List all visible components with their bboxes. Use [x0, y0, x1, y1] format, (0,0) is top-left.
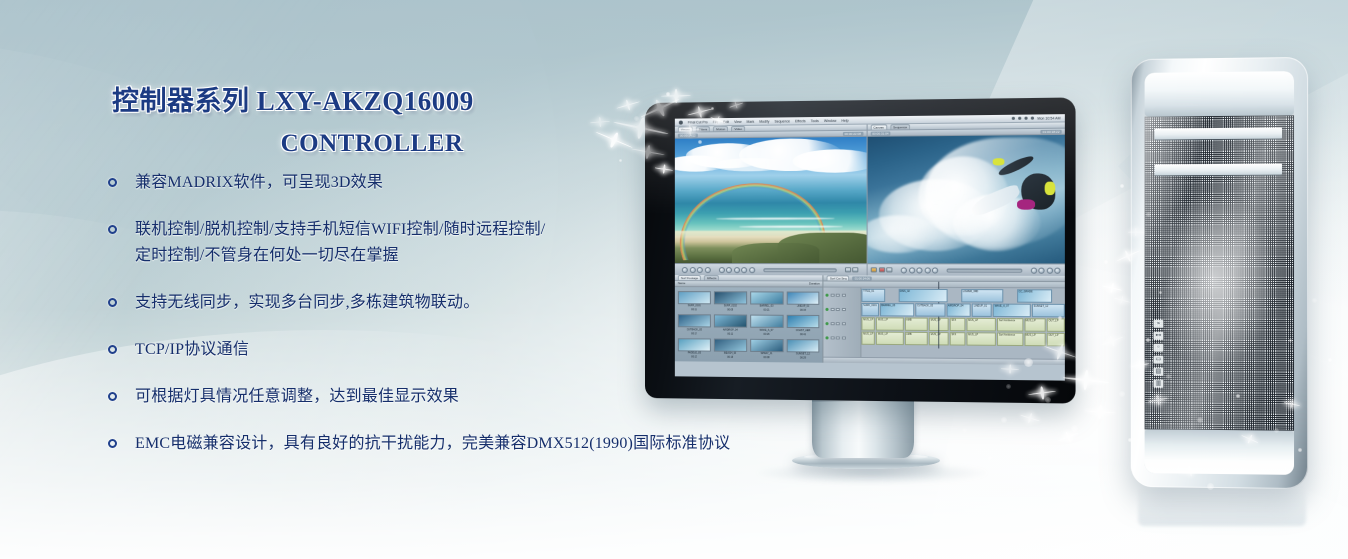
- feature-item-text: TCP/IP协议通信: [135, 337, 249, 363]
- play-around-icon[interactable]: [917, 267, 923, 273]
- bluetooth-icon[interactable]: [1012, 117, 1015, 120]
- feature-item: 支持无线同步，实现多台同步,多栋建筑物联动。: [108, 290, 848, 316]
- timeline-clip[interactable]: WAVE_A_07: [993, 304, 1031, 318]
- timeline-timecode[interactable]: 01:00:24:06: [853, 276, 872, 280]
- feature-item: EMC电磁兼容设计，具有良好的抗干扰能力，完美兼容DMX512(1990)国际标…: [108, 431, 848, 457]
- optical-drive-slot-1[interactable]: [1154, 127, 1281, 139]
- canvas-right-buttons[interactable]: [1031, 267, 1061, 273]
- timeline-clip[interactable]: MUS_LP: [1024, 333, 1046, 347]
- ring-bullet-icon: [108, 392, 117, 401]
- tower-handle-bottom: [1145, 429, 1294, 475]
- loop-icon[interactable]: [932, 267, 938, 273]
- audio-out-icon[interactable]: ▤: [1154, 368, 1164, 376]
- ring-bullet-icon: [108, 225, 117, 234]
- timeline-clip[interactable]: Surf Ambience: [997, 332, 1023, 346]
- ring-bullet-icon: [108, 345, 117, 354]
- viewer-timecode-in[interactable]: 00:00:14:12: [678, 133, 698, 137]
- battery-icon[interactable]: [1031, 117, 1034, 120]
- snapshot-icon[interactable]: [1055, 267, 1061, 273]
- timeline-audio-track[interactable]: MUS_LPMUS_LPAMBMUS_LPSFXMUS_LPSurf Ambie…: [862, 332, 1065, 347]
- insert-edit-icon[interactable]: [871, 267, 877, 272]
- timeline-clip[interactable]: MUS_LP: [967, 318, 997, 332]
- replace-edit-icon[interactable]: [886, 267, 892, 272]
- feature-item-text: 支持无线同步，实现多台同步,多栋建筑物联动。: [135, 290, 479, 316]
- timeline-clip[interactable]: TITLE_01: [862, 289, 885, 302]
- canvas-transport-bar[interactable]: [867, 263, 1065, 276]
- overwrite-edit-icon[interactable]: [879, 267, 885, 272]
- timeline-clip[interactable]: OUT_LP: [1047, 318, 1065, 332]
- timeline-video-track[interactable]: TITLE_01DISS_02LOWER_3RDCC_GRADE: [862, 289, 1065, 303]
- mac-pro-tower: ⌁ ⊷ ◦ ▭ ▤ ▥: [1131, 57, 1308, 489]
- timeline-clip[interactable]: MUS_LP: [876, 317, 903, 330]
- tab-motion[interactable]: Motion: [713, 126, 728, 131]
- timeline-clip[interactable]: MUS_LP: [862, 317, 876, 330]
- tab-filters[interactable]: Filters: [696, 126, 710, 131]
- canvas-panel: Canvas Sequence 00:00:31:04 01:00:18:22: [867, 122, 1065, 275]
- feature-item: 可根据灯具情况任意调整，达到最佳显示效果: [108, 384, 848, 410]
- timeline-clip[interactable]: BARREL_03: [880, 303, 915, 316]
- wifi-icon[interactable]: [1025, 117, 1028, 120]
- match-frame-icon[interactable]: [1047, 267, 1053, 273]
- timeline-clip[interactable]: AIRDROP_04: [946, 303, 971, 316]
- menu-item-mark[interactable]: Mark: [747, 119, 755, 123]
- prev-edit-icon[interactable]: [901, 267, 907, 273]
- tab-viewer[interactable]: Viewer: [678, 126, 693, 131]
- canvas-left-buttons[interactable]: [871, 267, 893, 272]
- menu-item-effects[interactable]: Effects: [795, 119, 806, 123]
- ring-bullet-icon: [108, 439, 117, 448]
- feature-item-text: 联机控制/脱机控制/支持手机短信WIFI控制/随时远程控制/ 定时控制/不管身在…: [135, 217, 545, 269]
- timeline-clip[interactable]: AMB: [905, 332, 928, 345]
- menu-item-window[interactable]: Window: [824, 118, 836, 122]
- optical-drive-slot-2[interactable]: [1154, 164, 1281, 176]
- tower-front-panel: ⌁ ⊷ ◦ ▭ ▤ ▥: [1145, 71, 1294, 475]
- timeline-video-track[interactable]: SURF_0101BARREL_03CUTBACK_02AIRDROP_04LI…: [862, 303, 1065, 317]
- timeline-clip[interactable]: CC_GRADE: [1017, 289, 1053, 303]
- mark-out-icon[interactable]: [1039, 267, 1045, 273]
- tab-sequence[interactable]: Sequence: [890, 124, 910, 129]
- surfer-shorts-accent: [1017, 199, 1035, 209]
- tower-perforated-mesh: [1145, 115, 1294, 430]
- menu-item-edit[interactable]: Edit: [723, 120, 729, 124]
- timeline-clip[interactable]: MUS_LP: [862, 332, 876, 345]
- timeline-clip[interactable]: SURF_0101: [862, 303, 879, 316]
- tab-canvas[interactable]: Canvas: [870, 124, 887, 129]
- audio-in-icon[interactable]: ▭: [1154, 356, 1164, 364]
- timeline-clip[interactable]: DISS_02: [898, 289, 948, 303]
- canvas-timecode-out[interactable]: 01:00:18:22: [1041, 129, 1062, 133]
- next-edit-icon[interactable]: [924, 267, 930, 273]
- canvas-timecode-in[interactable]: 00:00:31:04: [870, 131, 891, 135]
- menu-item-modify[interactable]: Modify: [759, 119, 769, 123]
- ethernet-icon[interactable]: ▥: [1154, 380, 1164, 388]
- timeline-clip[interactable]: SFX: [950, 332, 966, 345]
- timeline-clip[interactable]: MUS_LP: [876, 332, 903, 345]
- timeline-ruler[interactable]: [824, 281, 1065, 288]
- timeline-body: TITLE_01DISS_02LOWER_3RDCC_GRADESURF_010…: [824, 288, 1065, 359]
- canvas-scrubber[interactable]: [947, 268, 1022, 272]
- ring-bullet-icon: [108, 178, 117, 187]
- timeline-clip[interactable]: SUNSET_12: [1032, 304, 1065, 318]
- timeline-audio-track[interactable]: MUS_LPMUS_LPAMBMUS_LPSFXMUS_LPSurf Ambie…: [862, 317, 1065, 332]
- tab-video[interactable]: Video: [731, 126, 745, 131]
- menubar-clock[interactable]: Mon 10:54 AM: [1037, 116, 1060, 120]
- timeline-footer-toolbar[interactable]: [824, 357, 1065, 365]
- timeline-clip[interactable]: CUTBACK_02: [915, 303, 945, 316]
- feature-item-text: 兼容MADRIX软件，可呈现3D效果: [135, 170, 383, 196]
- apple-logo-icon[interactable]: [679, 120, 683, 124]
- page-subtitle: CONTROLLER: [112, 126, 632, 162]
- play-icon[interactable]: [909, 267, 915, 273]
- menu-item-file[interactable]: File: [713, 120, 718, 124]
- timeline-clip[interactable]: MUS_LP: [1024, 318, 1046, 332]
- timeline-clip[interactable]: OUT_LP: [1047, 333, 1065, 347]
- feature-item: 联机控制/脱机控制/支持手机短信WIFI控制/随时远程控制/ 定时控制/不管身在…: [108, 217, 848, 269]
- product-banner: 控制器系列 LXY-AKZQ16009 CONTROLLER 兼容MADRIX软…: [0, 0, 1348, 559]
- tower-port-cluster[interactable]: ⌁ ⊷ ◦ ▭ ▤ ▥: [1154, 320, 1164, 388]
- page-title: 控制器系列 LXY-AKZQ16009: [112, 84, 632, 118]
- snapshot-icon[interactable]: [852, 267, 858, 272]
- menu-item-final-cut-pro[interactable]: Final Cut Pro: [688, 120, 708, 124]
- timeline-panel: Surf Cut Seq 01:00:24:06 TITLE_01DISS_02…: [824, 275, 1065, 365]
- ring-bullet-icon: [108, 298, 117, 307]
- firewire-icon[interactable]: ⌁: [1154, 320, 1164, 328]
- menubar-status-area[interactable]: Mon 10:54 AM: [1012, 116, 1061, 121]
- feature-item-text: 可根据灯具情况任意调整，达到最佳显示效果: [135, 384, 459, 410]
- heading-group: 控制器系列 LXY-AKZQ16009 CONTROLLER: [112, 84, 632, 162]
- feature-list: 兼容MADRIX软件，可呈现3D效果联机控制/脱机控制/支持手机短信WIFI控制…: [108, 170, 848, 478]
- surfer-suit-accent: [1045, 181, 1055, 195]
- tower-reflection: [1138, 486, 1306, 526]
- headphone-icon[interactable]: ◦: [1154, 344, 1164, 352]
- timeline-clip[interactable]: LINEUP_01: [972, 303, 992, 316]
- canvas-center-buttons[interactable]: [901, 267, 938, 273]
- tower-aluminum-shell: ⌁ ⊷ ◦ ▭ ▤ ▥: [1131, 57, 1308, 489]
- tower-mesh-sheen: [1145, 115, 1294, 430]
- feature-item: TCP/IP协议通信: [108, 337, 848, 363]
- timeline-clip[interactable]: MUS_LP: [967, 332, 997, 346]
- timeline-clip[interactable]: LOWER_3RD: [961, 289, 1004, 303]
- usb-icon[interactable]: ⊷: [1154, 332, 1164, 340]
- volume-icon[interactable]: [1018, 117, 1021, 120]
- feature-item-text: EMC电磁兼容设计，具有良好的抗干扰能力，完美兼容DMX512(1990)国际标…: [135, 431, 730, 457]
- menu-item-sequence[interactable]: Sequence: [774, 119, 790, 123]
- timeline-tracks[interactable]: TITLE_01DISS_02LOWER_3RDCC_GRADESURF_010…: [862, 288, 1065, 359]
- viewer-timecode-out[interactable]: 00:00:22:08: [843, 131, 863, 135]
- menu-item-tools[interactable]: Tools: [811, 119, 819, 123]
- timeline-clip[interactable]: Surf Ambience: [997, 318, 1023, 332]
- feature-item: 兼容MADRIX软件，可呈现3D效果: [108, 170, 848, 196]
- canvas-image-surfer-wave: [867, 135, 1065, 264]
- menu-item-help[interactable]: Help: [841, 118, 848, 122]
- tower-handle-top: [1145, 71, 1294, 117]
- menu-item-view[interactable]: View: [734, 119, 741, 123]
- mark-in-icon[interactable]: [1031, 267, 1037, 273]
- timeline-clip[interactable]: SFX: [950, 318, 966, 331]
- surfer-glove-accent: [993, 158, 1005, 164]
- timeline-clip[interactable]: AMB: [905, 317, 928, 330]
